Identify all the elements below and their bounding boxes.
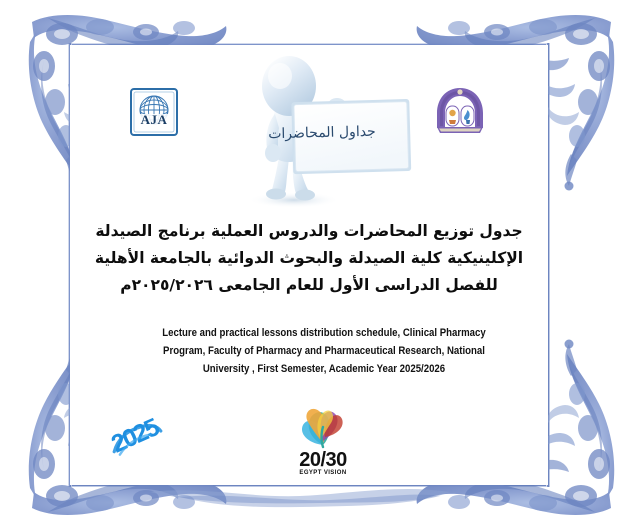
- arabic-heading-line-1: جدول توزيع المحاضرات والدروس العملية برن…: [76, 218, 542, 245]
- english-heading-line-2: Program, Faculty of Pharmacy and Pharmac…: [152, 342, 496, 360]
- english-heading-line-1: Lecture and practical lessons distributi…: [152, 324, 496, 342]
- aja-logo-label: AJA: [141, 112, 168, 127]
- english-heading-line-3: University , First Semester, Academic Ye…: [152, 360, 496, 378]
- year-2025-logo: 2025: [104, 414, 166, 460]
- arabic-heading-line-3: للفصل الدراسى الأول للعام الجامعى ٢٠٢٥/٢…: [76, 272, 542, 299]
- ornament-bottom-band: [150, 489, 450, 503]
- egypt-vision-subtitle: EGYPT VISION: [280, 470, 366, 476]
- document-page: AJA: [0, 0, 643, 529]
- arabic-heading-line-2: الإكلينيكية كلية الصيدلة والبحوث الدوائي…: [76, 245, 542, 272]
- arabic-heading: جدول توزيع المحاضرات والدروس العملية برن…: [76, 218, 542, 299]
- university-emblem: [433, 86, 487, 140]
- aja-logo: AJA: [130, 88, 178, 138]
- sign-text: جداول المحاضرات: [252, 123, 392, 142]
- egypt-vision-number: 20/30: [280, 449, 366, 472]
- egypt-vision-2030-logo: 20/30 EGYPT VISION: [280, 405, 366, 483]
- english-heading: Lecture and practical lessons distributi…: [124, 324, 524, 378]
- egypt-vision-petals-icon: [280, 405, 366, 451]
